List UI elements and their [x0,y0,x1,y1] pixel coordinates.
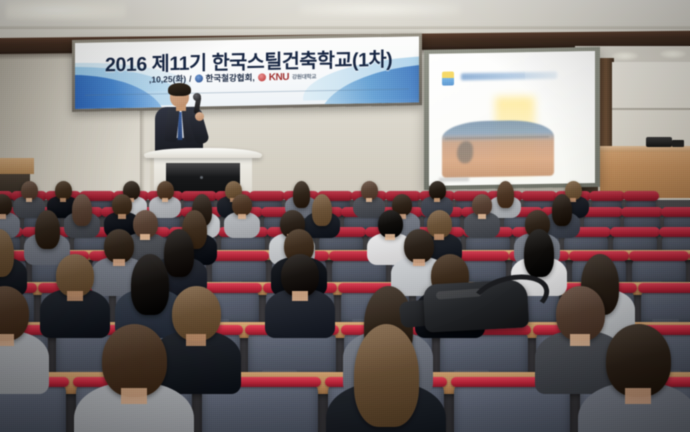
audience-member [497,181,514,221]
banner-face: 2016 제11기 한국스틸건축학교(1차) ,10,25(화) / 한국철강협… [75,36,419,109]
audience-head [293,181,310,208]
audience-neck [238,214,246,219]
audience-member [361,181,378,221]
audience-head [35,210,60,250]
ceiling-light-icon [300,2,460,16]
slide-logo-icon [442,71,454,85]
audience-head [104,229,134,263]
audience-member [312,194,332,240]
photo-lecture-hall: 2016 제11기 한국스틸건축학교(1차) ,10,25(화) / 한국철강협… [0,0,690,432]
ceiling-light-icon [612,52,638,60]
audience-member [552,194,572,240]
audience-neck [292,291,307,300]
audience-head [72,194,92,225]
audience-member [556,286,605,402]
audience-member [172,286,221,402]
audience-member [472,194,492,240]
audience-neck [140,234,150,240]
organizer-knu-korean: 강원대학교 [292,72,316,80]
audience-neck [121,388,147,404]
audience-member [378,210,403,269]
audience-neck [478,214,486,219]
av-equipment [672,140,684,147]
audience-neck [625,388,651,404]
audience-member [606,324,671,432]
knu-logo-icon [258,73,266,81]
kosa-logo-icon [195,74,203,82]
audience-head [606,324,671,397]
audience-head [404,229,434,263]
speaker-hand [195,112,204,121]
av-equipment [646,137,672,147]
audience-neck [26,198,33,202]
banner-separator: / [189,74,191,84]
audience-neck [60,198,67,202]
microphone-head-icon [193,93,201,101]
projection-screen [424,47,600,190]
audience-member [232,194,252,240]
ceiling-light-icon [6,0,126,20]
audience-neck [118,214,126,219]
audience-neck [113,259,125,266]
podium-top [144,148,262,158]
speaker-hair [168,83,191,96]
audience-member [0,286,29,402]
audience-head [552,194,572,225]
audience-member [354,324,419,432]
audience-head [172,286,221,341]
audience-member [157,181,174,221]
audience-neck [67,291,82,300]
projected-slide [429,51,595,186]
podium-panel-gloss [166,163,240,177]
event-banner: 2016 제11기 한국스틸건축학교(1차) ,10,25(화) / 한국철강협… [72,33,422,112]
audience-head [312,194,332,225]
audience-head [131,254,169,315]
audience-neck [385,234,395,240]
slide-diagram-shape [457,141,473,163]
audience-neck [434,234,444,240]
ceiling-light-icon [660,50,686,58]
audience-head [497,181,514,208]
audience-neck [0,214,6,219]
left-wall-shelf [0,158,34,174]
audience-neck [186,334,206,346]
podium-indicator-icon [200,176,203,179]
audience-head [281,254,319,297]
organizer-kosa: 한국철강협회, [206,71,255,84]
banner-divider [85,89,409,96]
audience-head [354,324,419,428]
audience-head [102,324,167,397]
audience-member [281,254,319,344]
audience-neck [162,198,169,202]
audience-member [104,229,134,300]
audience-head [556,286,605,341]
audience-member [102,324,167,432]
wall-panel-seam [612,108,690,110]
audience-member [56,254,94,344]
audience-neck [434,198,441,202]
ceiling-seam [0,26,690,29]
organizer-knu: KNU [269,71,289,82]
screen-glare [525,51,595,186]
audience-neck [366,198,373,202]
audience-member [72,194,92,240]
audience-neck [0,334,14,346]
audience-head [524,229,554,277]
audience-neck [570,334,590,346]
audience-neck [413,259,425,266]
audience-head [56,254,94,297]
